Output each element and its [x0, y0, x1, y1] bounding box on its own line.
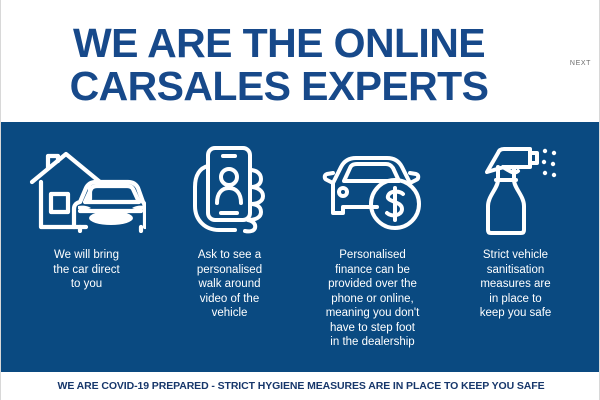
- covid-notice-text: WE ARE COVID-19 PREPARED - STRICT HYGIEN…: [58, 380, 545, 392]
- feature-item-walkaround-video: Ask to see a personalised walk around vi…: [158, 122, 301, 321]
- spray-bottle-icon: [474, 142, 558, 238]
- feature-caption: We will bring the car direct to you: [53, 248, 119, 292]
- feature-item-finance: Personalised finance can be provided ove…: [301, 122, 444, 350]
- hand-holding-phone-icon: [187, 142, 273, 238]
- car-with-dollar-coin-icon: [321, 142, 425, 238]
- feature-caption: Strict vehicle sanitisation measures are…: [480, 248, 552, 321]
- covid-notice-strip: WE ARE COVID-19 PREPARED - STRICT HYGIEN…: [1, 372, 600, 400]
- promo-banner: WE ARE THE ONLINE CARSALES EXPERTS NEXT: [0, 0, 600, 400]
- feature-item-sanitisation: Strict vehicle sanitisation measures are…: [444, 122, 587, 321]
- feature-panel: We will bring the car direct to you: [1, 122, 600, 372]
- next-button[interactable]: NEXT: [570, 60, 591, 67]
- page-title: WE ARE THE ONLINE CARSALES EXPERTS: [23, 22, 535, 108]
- banner-header: WE ARE THE ONLINE CARSALES EXPERTS NEXT: [1, 0, 600, 122]
- feature-list: We will bring the car direct to you: [1, 122, 600, 372]
- feature-item-home-delivery: We will bring the car direct to you: [15, 122, 158, 292]
- feature-caption: Personalised finance can be provided ove…: [326, 248, 420, 350]
- feature-caption: Ask to see a personalised walk around vi…: [197, 248, 262, 321]
- house-with-car-icon: [28, 142, 146, 238]
